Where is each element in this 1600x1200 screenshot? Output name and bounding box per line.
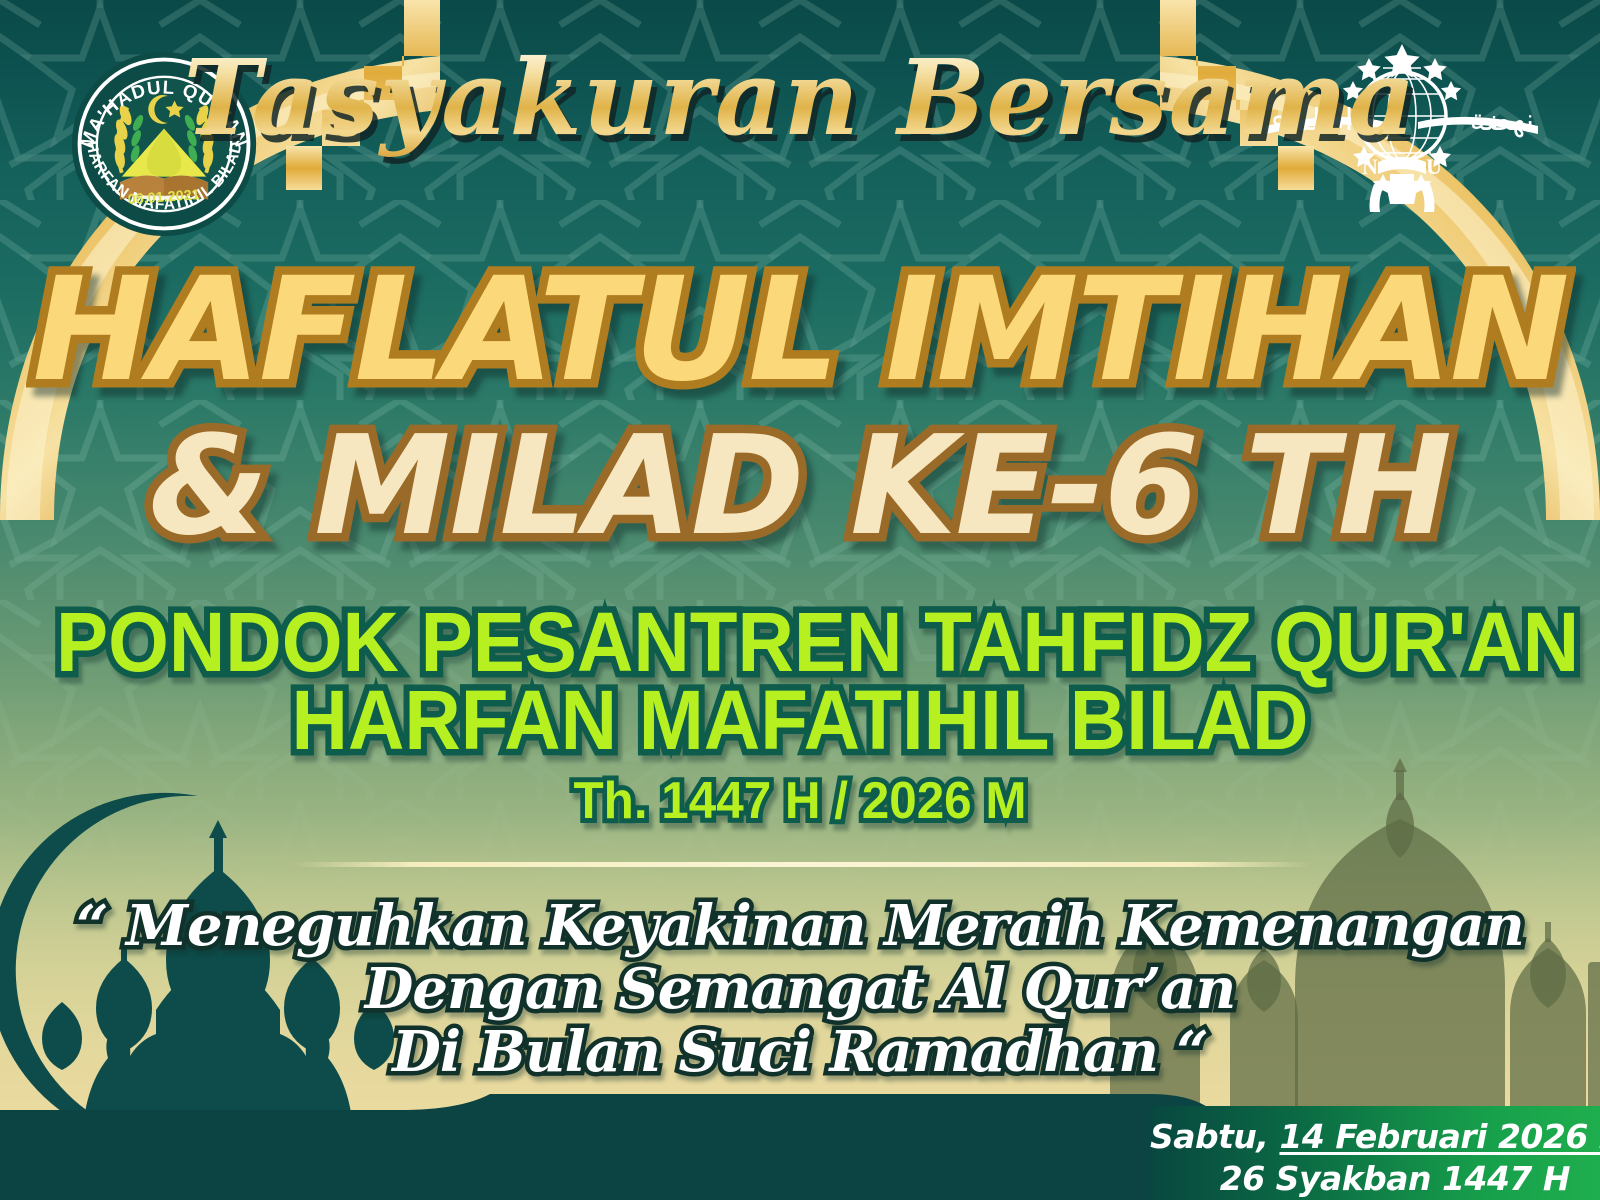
tagline-line-1: “ Meneguhkan Keyakinan Meraih Kemenangan — [0, 893, 1600, 959]
institution-line-1: PONDOK PESANTREN TAHFIDZ QUR'AN — [56, 600, 1544, 684]
tagline-line-2: Dengan Semangat Al Qur’an — [0, 956, 1600, 1022]
date-bar: Sabtu, 14 Februari 2026 M 26 Syakban 144… — [1150, 1106, 1600, 1200]
headline-line-1: HAFLATUL IMTIHAN — [0, 258, 1600, 401]
date-hijri: 26 Syakban 1447 H — [1150, 1158, 1570, 1200]
tagline-line-3: Di Bulan Suci Ramadhan “ — [0, 1019, 1600, 1085]
headline-line-2: & MILAD KE-6 TH — [0, 418, 1600, 555]
script-title: Tasyakuran Bersama — [0, 36, 1600, 159]
divider — [292, 862, 1312, 867]
date-gregorian-prefix: Sabtu, — [1150, 1117, 1279, 1156]
institution-year-line: Th. 1447 H / 2026 M — [40, 775, 1560, 827]
event-banner: MA'HADUL QUR'AN HARFAN MAFATIHIL BILAD 0… — [0, 0, 1600, 1200]
institution-line-2: HARFAN MAFATIHIL BILAD — [56, 678, 1544, 762]
date-gregorian-value: 14 Februari 2026 M — [1279, 1117, 1600, 1156]
date-gregorian: Sabtu, 14 Februari 2026 M — [1150, 1116, 1570, 1158]
